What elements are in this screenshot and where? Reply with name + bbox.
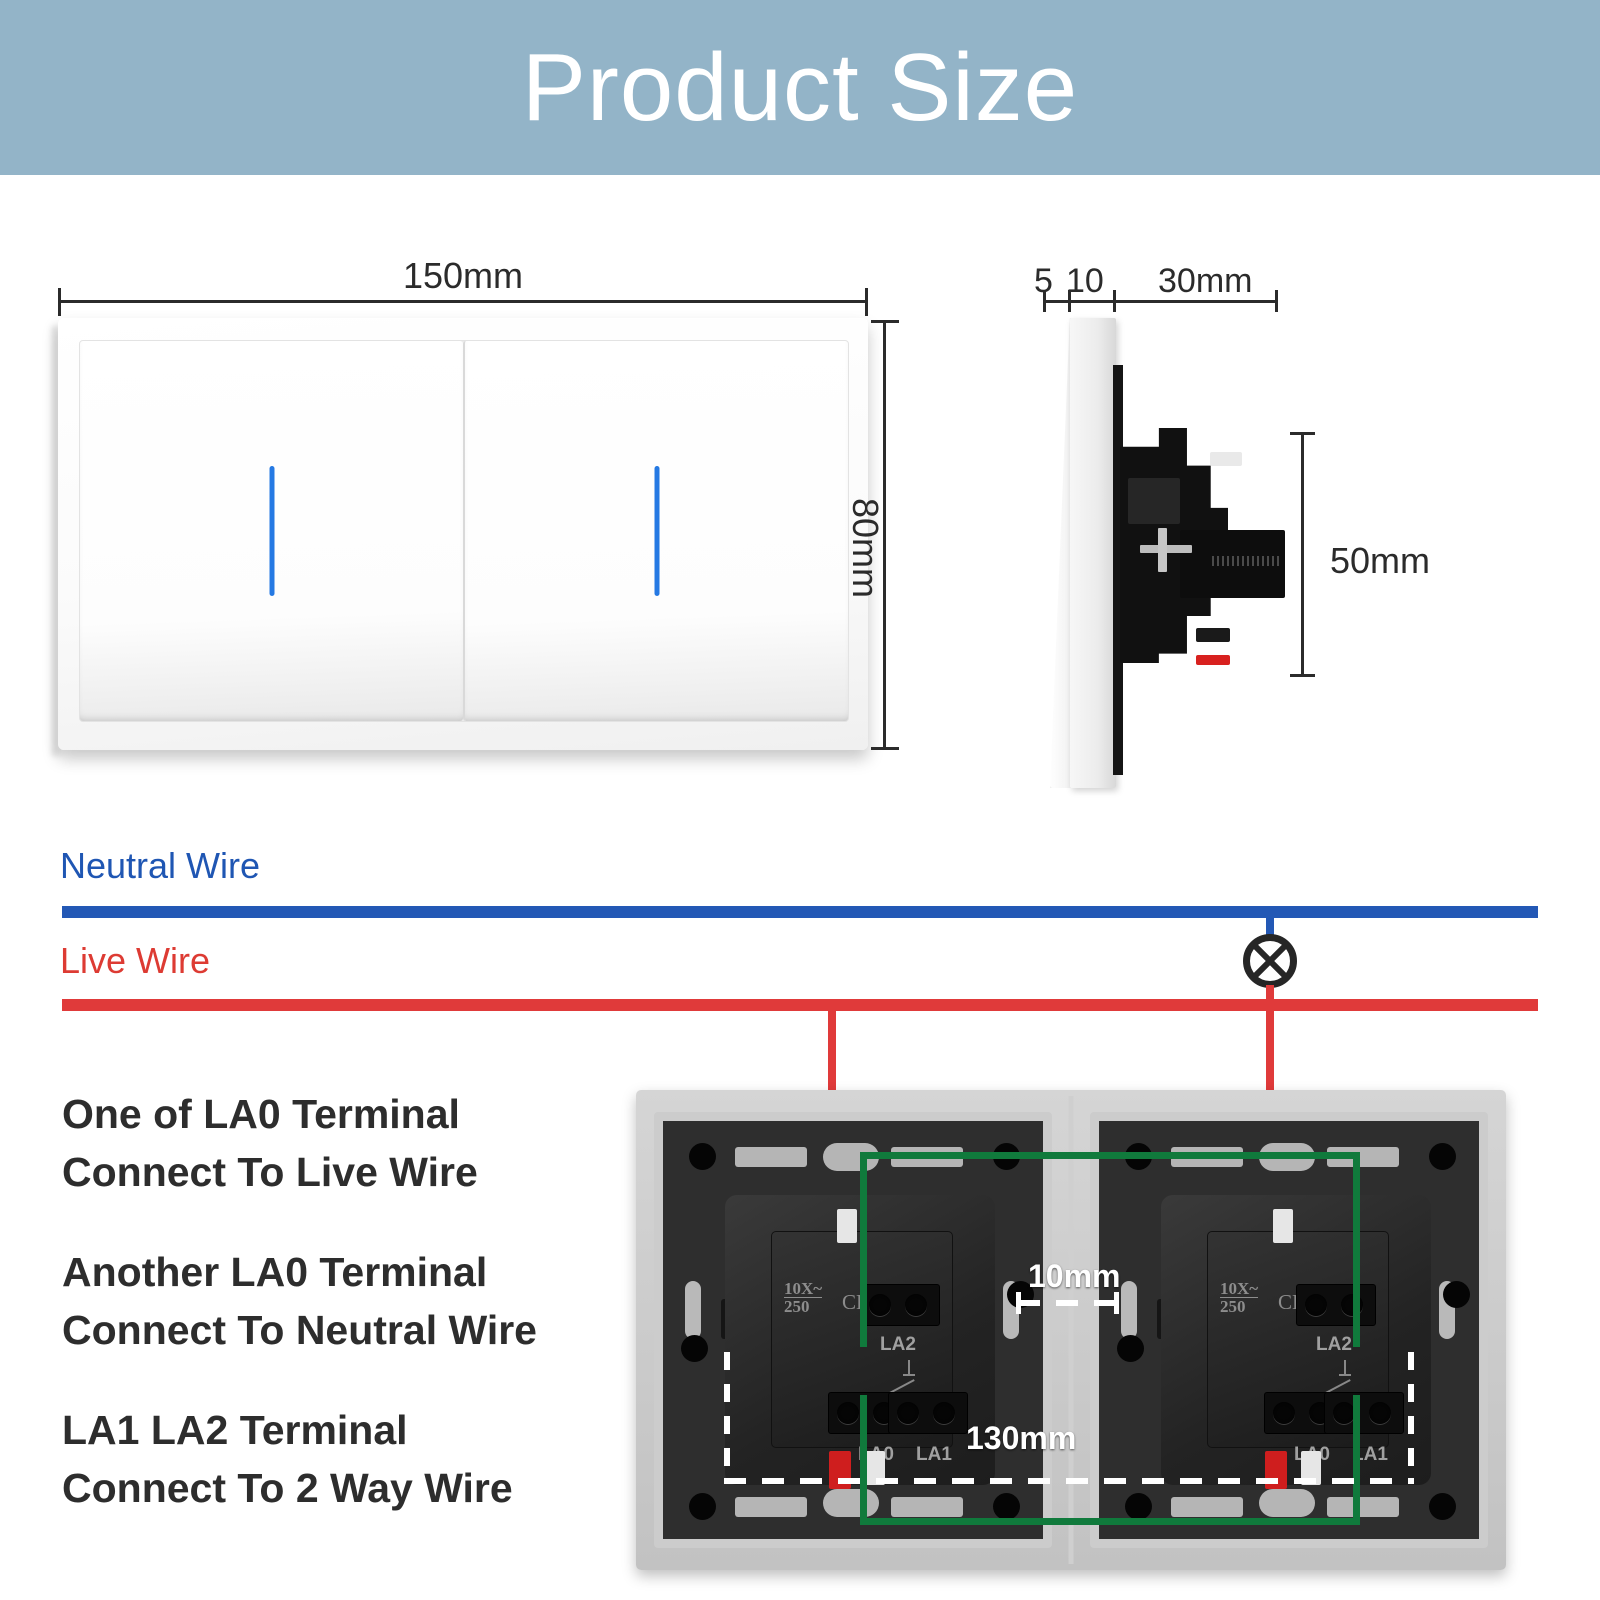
two-way-wire-right-up	[1353, 1152, 1360, 1347]
span-measure-tick-right	[1408, 1352, 1414, 1480]
rating-denominator: 250	[1220, 1297, 1258, 1315]
terminal-hole-la1-a	[1333, 1402, 1355, 1424]
mount-hole-tl	[689, 1143, 716, 1170]
center-tab-bottom	[823, 1489, 879, 1517]
terminal-hole-la2-a	[869, 1294, 891, 1316]
claw-hole-left	[1117, 1335, 1144, 1362]
span-measure-tick-left	[724, 1352, 730, 1480]
instruction-item-2: Another LA0 Terminal Connect To Neutral …	[62, 1243, 622, 1359]
two-way-wire-top	[860, 1152, 1360, 1159]
rating-suffix: ~	[1249, 1279, 1258, 1298]
instruction-1-line-1: One of LA0 Terminal	[62, 1085, 622, 1143]
instruction-3-line-2: Connect To 2 Way Wire	[62, 1459, 622, 1517]
mount-hole-bl	[1125, 1493, 1152, 1520]
frame-tab-bottom-left	[735, 1497, 807, 1517]
claw-hole-right	[1443, 1281, 1470, 1308]
claw-slot-left	[1121, 1281, 1137, 1339]
terminal-label-la2: LA2	[1316, 1334, 1352, 1356]
mount-hole-br	[1429, 1493, 1456, 1520]
mount-hole-bl	[689, 1493, 716, 1520]
claw-hole-left	[681, 1335, 708, 1362]
rating-numerator: 10X	[1220, 1279, 1249, 1298]
instruction-1-line-2: Connect To Live Wire	[62, 1143, 622, 1201]
terminal-block-la1	[1324, 1392, 1404, 1434]
frame-tab-bottom-left	[1171, 1497, 1243, 1517]
instruction-2-line-1: Another LA0 Terminal	[62, 1243, 622, 1301]
two-way-wire-left-up	[860, 1152, 867, 1347]
instruction-item-3: LA1 LA2 Terminal Connect To 2 Way Wire	[62, 1401, 622, 1517]
back-terminal-assembly: 10X~ 250 CE LA2	[636, 1090, 1506, 1570]
instruction-item-1: One of LA0 Terminal Connect To Live Wire	[62, 1085, 622, 1201]
terminal-hole-la0-a	[837, 1402, 859, 1424]
terminal-block-la2	[860, 1284, 940, 1326]
rating-denominator: 250	[784, 1297, 822, 1315]
instructions-list: One of LA0 Terminal Connect To Live Wire…	[62, 1085, 622, 1559]
two-way-wire-left-down	[860, 1395, 867, 1525]
rating-suffix: ~	[813, 1279, 822, 1298]
frame-divider	[1069, 1096, 1074, 1564]
frame-tab-bottom-right	[891, 1497, 963, 1517]
mechanism-core: 10X~ 250 CE LA2	[1207, 1231, 1389, 1448]
mount-hole-tr	[1429, 1143, 1456, 1170]
gap-measure-label: 10mm	[1028, 1258, 1121, 1295]
mechanism-plate: 10X~ 250 CE LA2	[1161, 1195, 1431, 1485]
terminal-hole-la2-a	[1305, 1294, 1327, 1316]
mount-hole-br	[993, 1493, 1020, 1520]
live-wire-rail	[62, 999, 1538, 1011]
terminal-label-la2: LA2	[880, 1334, 916, 1356]
two-way-wire-bottom	[860, 1518, 1360, 1525]
terminal-hole-la1-a	[897, 1402, 919, 1424]
frame-tab-bottom-right	[1327, 1497, 1399, 1517]
lamp-symbol-icon	[1243, 934, 1297, 988]
terminal-label-la1: LA1	[916, 1444, 952, 1466]
rating-numerator: 10X	[784, 1279, 813, 1298]
center-tab-bottom	[1259, 1489, 1315, 1517]
neutral-wire-label: Neutral Wire	[60, 845, 260, 887]
rating-marking: 10X~ 250	[1220, 1280, 1258, 1315]
terminal-hole-la1-b	[1369, 1402, 1391, 1424]
instruction-2-line-2: Connect To Neutral Wire	[62, 1301, 622, 1359]
terminal-block-la1	[888, 1392, 968, 1434]
release-clip-top	[1273, 1209, 1293, 1243]
instruction-3-line-1: LA1 LA2 Terminal	[62, 1401, 622, 1459]
release-clip-top	[837, 1209, 857, 1243]
gap-measure-cap-right	[1114, 1292, 1119, 1314]
neutral-wire-rail	[62, 906, 1538, 918]
span-measure-label: 130mm	[966, 1420, 1076, 1457]
gap-measure-line	[1018, 1300, 1118, 1306]
gap-measure-cap-left	[1016, 1292, 1021, 1314]
rating-marking: 10X~ 250	[784, 1280, 822, 1315]
claw-slot-left	[685, 1281, 701, 1339]
terminal-hole-la1-b	[933, 1402, 955, 1424]
terminal-block-la2	[1296, 1284, 1376, 1326]
frame-tab-top-left	[735, 1147, 807, 1167]
live-wire-label: Live Wire	[60, 940, 210, 982]
span-measure-line	[724, 1478, 1414, 1484]
terminal-hole-la2-b	[905, 1294, 927, 1316]
terminal-hole-la0-a	[1273, 1402, 1295, 1424]
two-way-wire-right-down	[1353, 1395, 1360, 1525]
